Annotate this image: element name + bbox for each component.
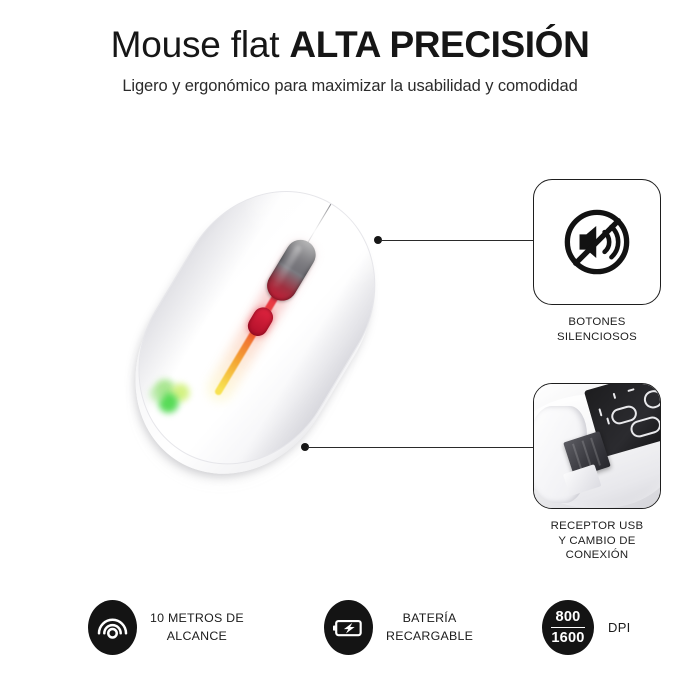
leader-line-usb-receiver xyxy=(307,447,533,449)
feature-label-line: RECARGABLE xyxy=(386,628,473,646)
callout-label-line: RECEPTOR USB xyxy=(533,519,661,534)
dpi-badge: 800 1600 xyxy=(542,600,594,655)
page-subtitle: Ligero y ergonómico para maximizar la us… xyxy=(0,75,700,97)
feature-label-line: 10 METROS DE xyxy=(150,610,244,628)
mouse-left-shading xyxy=(107,165,286,418)
label-tick xyxy=(627,388,634,392)
feature-label-battery: BATERÍA RECARGABLE xyxy=(386,610,473,645)
wireless-signal-icon xyxy=(97,614,128,641)
callout-box-usb-receiver xyxy=(533,383,661,509)
callout-label-line: BOTONES xyxy=(533,315,661,330)
mouse-illustration xyxy=(95,154,418,512)
feature-badge-battery xyxy=(324,600,373,655)
callout-label-line: Y CAMBIO DE xyxy=(533,534,661,549)
feature-range: 10 METROS DE ALCANCE xyxy=(88,600,244,655)
feature-dpi: 800 1600 DPI xyxy=(542,600,631,655)
callout-label-silent-buttons: BOTONES SILENCIOSOS xyxy=(533,315,661,344)
product-infographic: Mouse flat ALTA PRECISIÓN Ligero y ergon… xyxy=(0,0,700,700)
dpi-unit-label: DPI xyxy=(608,620,631,635)
dpi-divider xyxy=(551,627,585,629)
dpi-value-bottom: 1600 xyxy=(551,630,584,646)
dongle-ridge xyxy=(582,441,593,468)
scroll-wheel xyxy=(262,234,322,306)
page-title-bold: ALTA PRECISIÓN xyxy=(289,24,589,65)
callout-label-usb-receiver: RECEPTOR USB Y CAMBIO DE CONEXIÓN xyxy=(533,519,661,563)
callout-silent-buttons: BOTONES SILENCIOSOS xyxy=(533,179,661,344)
dpi-value-top: 800 xyxy=(556,609,581,625)
dongle-ridge xyxy=(590,438,601,465)
leader-line-silent-buttons xyxy=(380,240,533,242)
label-tick xyxy=(612,393,616,400)
dongle-ridge xyxy=(572,444,583,471)
feature-label-line: BATERÍA xyxy=(386,610,473,628)
label-pill xyxy=(641,388,661,411)
feature-label-line: ALCANCE xyxy=(150,628,244,646)
button-split-line xyxy=(308,204,332,242)
rechargeable-battery-icon xyxy=(333,618,365,638)
product-image xyxy=(96,168,416,498)
callout-box-silent-buttons xyxy=(533,179,661,305)
callout-label-line: SILENCIOSOS xyxy=(533,330,661,345)
mute-speaker-icon xyxy=(559,204,635,280)
header: Mouse flat ALTA PRECISIÓN Ligero y ergon… xyxy=(0,22,700,97)
usb-receiver-photo xyxy=(534,384,660,508)
feature-battery: BATERÍA RECARGABLE xyxy=(324,600,473,655)
page-title-light: Mouse flat xyxy=(111,24,290,65)
mouse-top-shell xyxy=(100,154,414,501)
feature-badge-range xyxy=(88,600,137,655)
callout-label-line: CONEXIÓN xyxy=(533,548,661,563)
page-title: Mouse flat ALTA PRECISIÓN xyxy=(0,22,700,68)
label-tick xyxy=(599,408,603,417)
label-tick xyxy=(606,417,610,424)
feature-label-range: 10 METROS DE ALCANCE xyxy=(150,610,244,645)
callout-usb-receiver: RECEPTOR USB Y CAMBIO DE CONEXIÓN xyxy=(533,383,661,563)
mouse-right-shading xyxy=(234,242,406,491)
